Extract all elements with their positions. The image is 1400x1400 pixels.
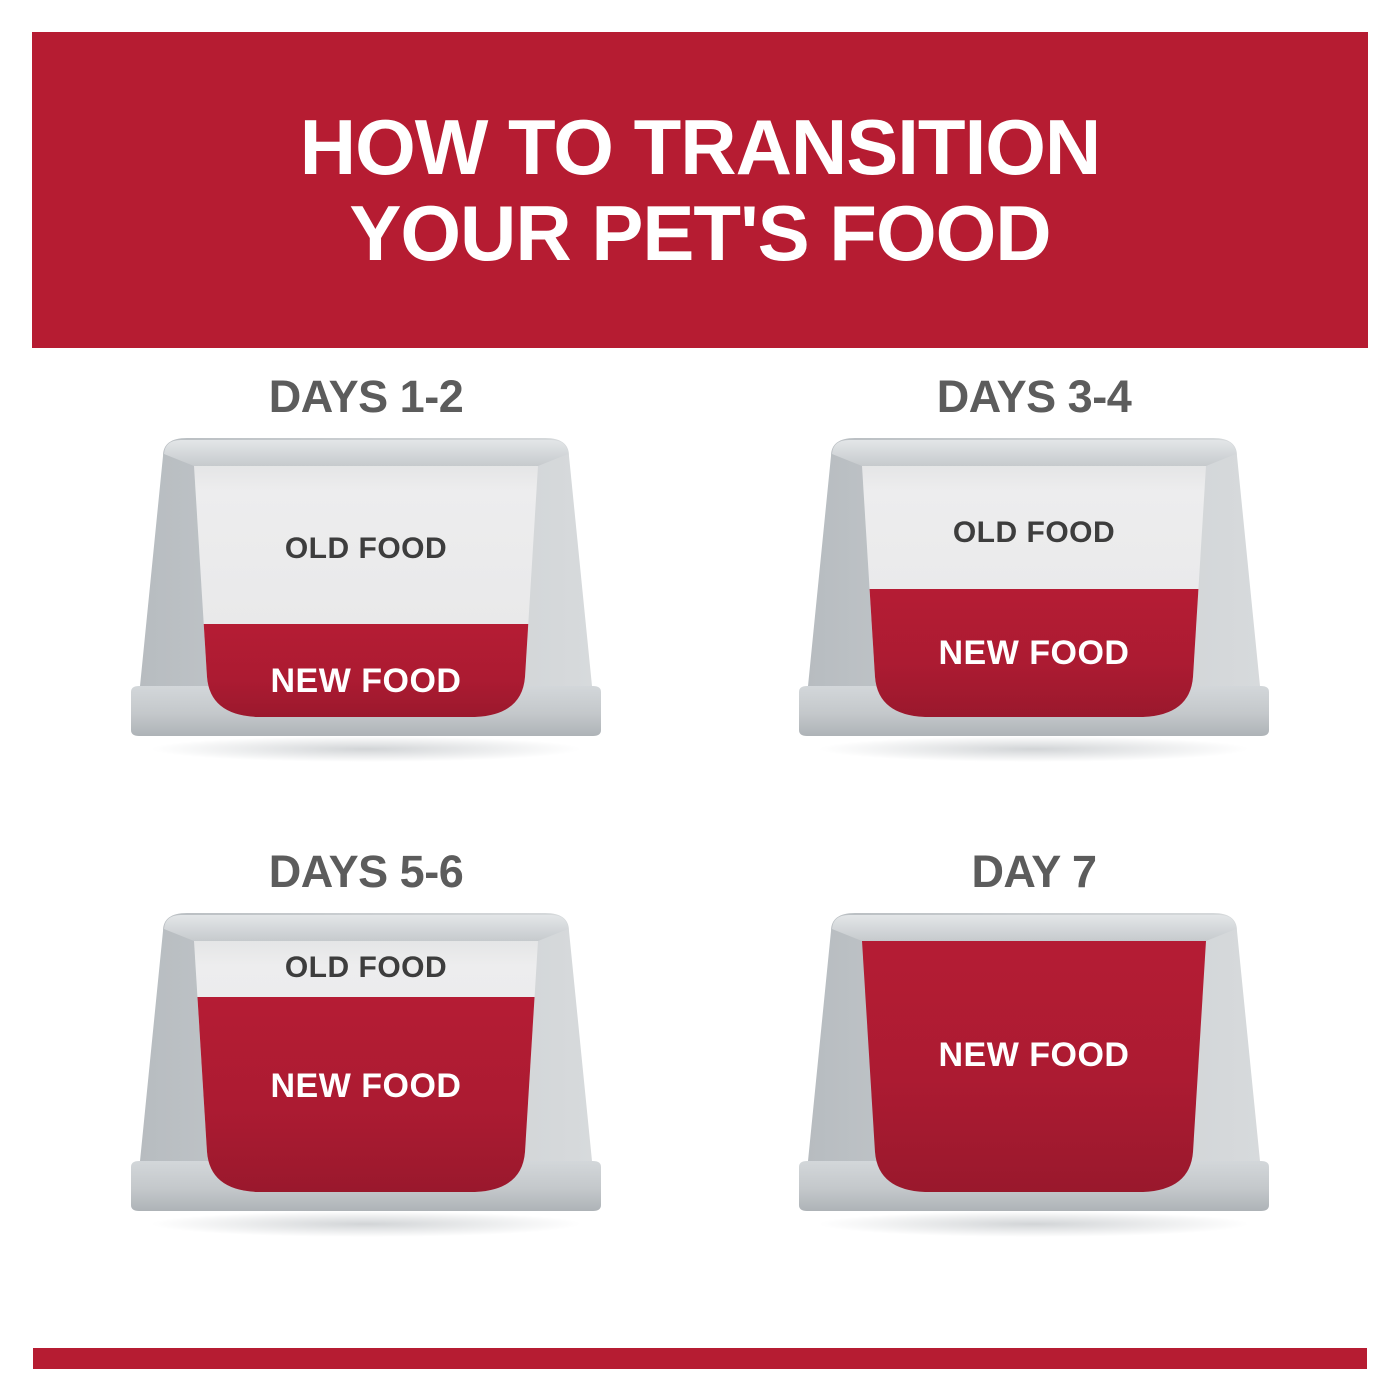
step-title-day-7: DAY 7 bbox=[971, 847, 1096, 897]
bowl-day-7: NEW FOOD bbox=[769, 909, 1299, 1239]
bowl-illustration-4 bbox=[769, 909, 1299, 1239]
bottom-accent-bar bbox=[33, 1348, 1367, 1369]
step-title-days-5-6: DAYS 5-6 bbox=[269, 847, 463, 897]
step-panel-days-1-2: DAYS 1-2 bbox=[32, 372, 700, 847]
bowl-days-5-6: OLD FOOD NEW FOOD bbox=[101, 909, 631, 1239]
new-food-fill-2 bbox=[849, 589, 1219, 724]
new-food-fill-1 bbox=[181, 624, 551, 724]
page-title-line-2: YOUR PET'S FOOD bbox=[349, 190, 1050, 276]
bowl-days-3-4: OLD FOOD NEW FOOD bbox=[769, 434, 1299, 764]
step-panel-day-7: DAY 7 NEW FOOD bbox=[700, 847, 1368, 1322]
infographic-page: HOW TO TRANSITION YOUR PET'S FOOD DAYS 1… bbox=[0, 0, 1400, 1400]
bowl-days-1-2: OLD FOOD NEW FOOD bbox=[101, 434, 631, 764]
bowl-illustration-2 bbox=[769, 434, 1299, 764]
page-title-line-1: HOW TO TRANSITION bbox=[300, 104, 1101, 190]
step-title-days-1-2: DAYS 1-2 bbox=[269, 372, 463, 422]
bowl-illustration-3 bbox=[101, 909, 631, 1239]
step-panel-days-5-6: DAYS 5-6 OLD bbox=[32, 847, 700, 1322]
new-food-fill-3 bbox=[181, 997, 551, 1199]
step-title-days-3-4: DAYS 3-4 bbox=[937, 372, 1131, 422]
steps-grid: DAYS 1-2 bbox=[32, 372, 1368, 1322]
bowl-illustration-1 bbox=[101, 434, 631, 764]
step-panel-days-3-4: DAYS 3-4 OLD bbox=[700, 372, 1368, 847]
header-banner: HOW TO TRANSITION YOUR PET'S FOOD bbox=[32, 32, 1368, 348]
new-food-fill-4 bbox=[849, 934, 1219, 1199]
